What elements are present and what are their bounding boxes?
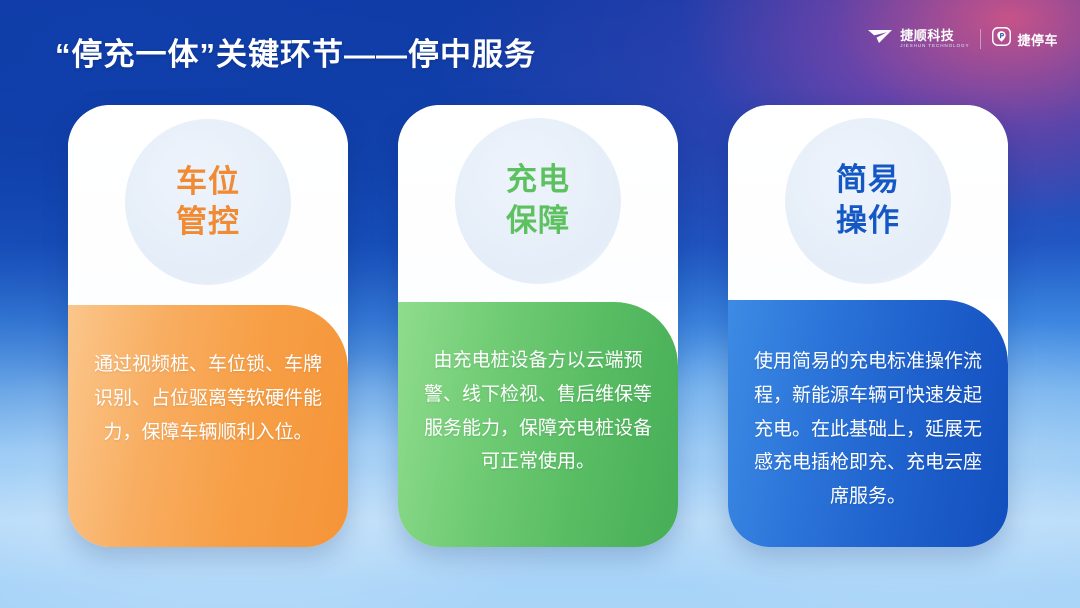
logo-jieshun-cn: 捷顺科技 [900,29,969,42]
feature-card-simple-operation[interactable]: 简易 操作 使用简易的充电标准操作流程，新能源车辆可快速发起充电。在此基础上，延… [728,105,1008,547]
logo-jietingche-cn: 捷停车 [1017,30,1058,49]
card-title: 车位 管控 [176,162,240,243]
card-title: 简易 操作 [836,160,900,241]
parking-pin-logo-icon [992,27,1011,51]
badge-circle: 车位 管控 [125,119,291,285]
logo-jieshun-en: JIESHUN TECHNOLOGY [900,44,969,49]
logo-jietingche: 捷停车 [992,27,1058,51]
feature-card-parking-control[interactable]: 车位 管控 通过视频桩、车位锁、车牌识别、占位驱离等软硬件能力，保障车辆顺利入位… [68,105,348,547]
card-description: 由充电桩设备方以云端预警、线下检视、售后维保等服务能力，保障充电桩设备可正常使用… [398,344,678,479]
slide-canvas: “停充一体”关键环节——停中服务 捷顺科技 JIESHUN TECHNOLOGY [0,0,1080,608]
card-header-area: 充电 保障 [398,105,678,302]
card-description: 使用简易的充电标准操作流程，新能源车辆可快速发起充电。在此基础上，延展无感充电插… [728,345,1008,514]
card-description: 通过视频桩、车位锁、车牌识别、占位驱离等软硬件能力，保障车辆顺利入位。 [68,348,348,449]
logo-bar: 捷顺科技 JIESHUN TECHNOLOGY 捷停车 [868,27,1058,51]
logo-divider [980,29,981,49]
card-body-panel: 通过视频桩、车位锁、车牌识别、占位驱离等软硬件能力，保障车辆顺利入位。 [68,305,348,547]
card-title: 充电 保障 [506,160,570,241]
feature-card-charging-assurance[interactable]: 充电 保障 由充电桩设备方以云端预警、线下检视、售后维保等服务能力，保障充电桩设… [398,105,678,547]
card-header-area: 车位 管控 [68,105,348,305]
card-body-panel: 使用简易的充电标准操作流程，新能源车辆可快速发起充电。在此基础上，延展无感充电插… [728,300,1008,547]
logo-jieshun-technology: 捷顺科技 JIESHUN TECHNOLOGY [868,28,969,50]
page-title: “停充一体”关键环节——停中服务 [55,29,536,74]
paper-plane-logo-icon [868,28,894,50]
badge-circle: 简易 操作 [785,118,951,284]
badge-circle: 充电 保障 [455,118,621,284]
card-header-area: 简易 操作 [728,105,1008,300]
card-body-panel: 由充电桩设备方以云端预警、线下检视、售后维保等服务能力，保障充电桩设备可正常使用… [398,302,678,547]
